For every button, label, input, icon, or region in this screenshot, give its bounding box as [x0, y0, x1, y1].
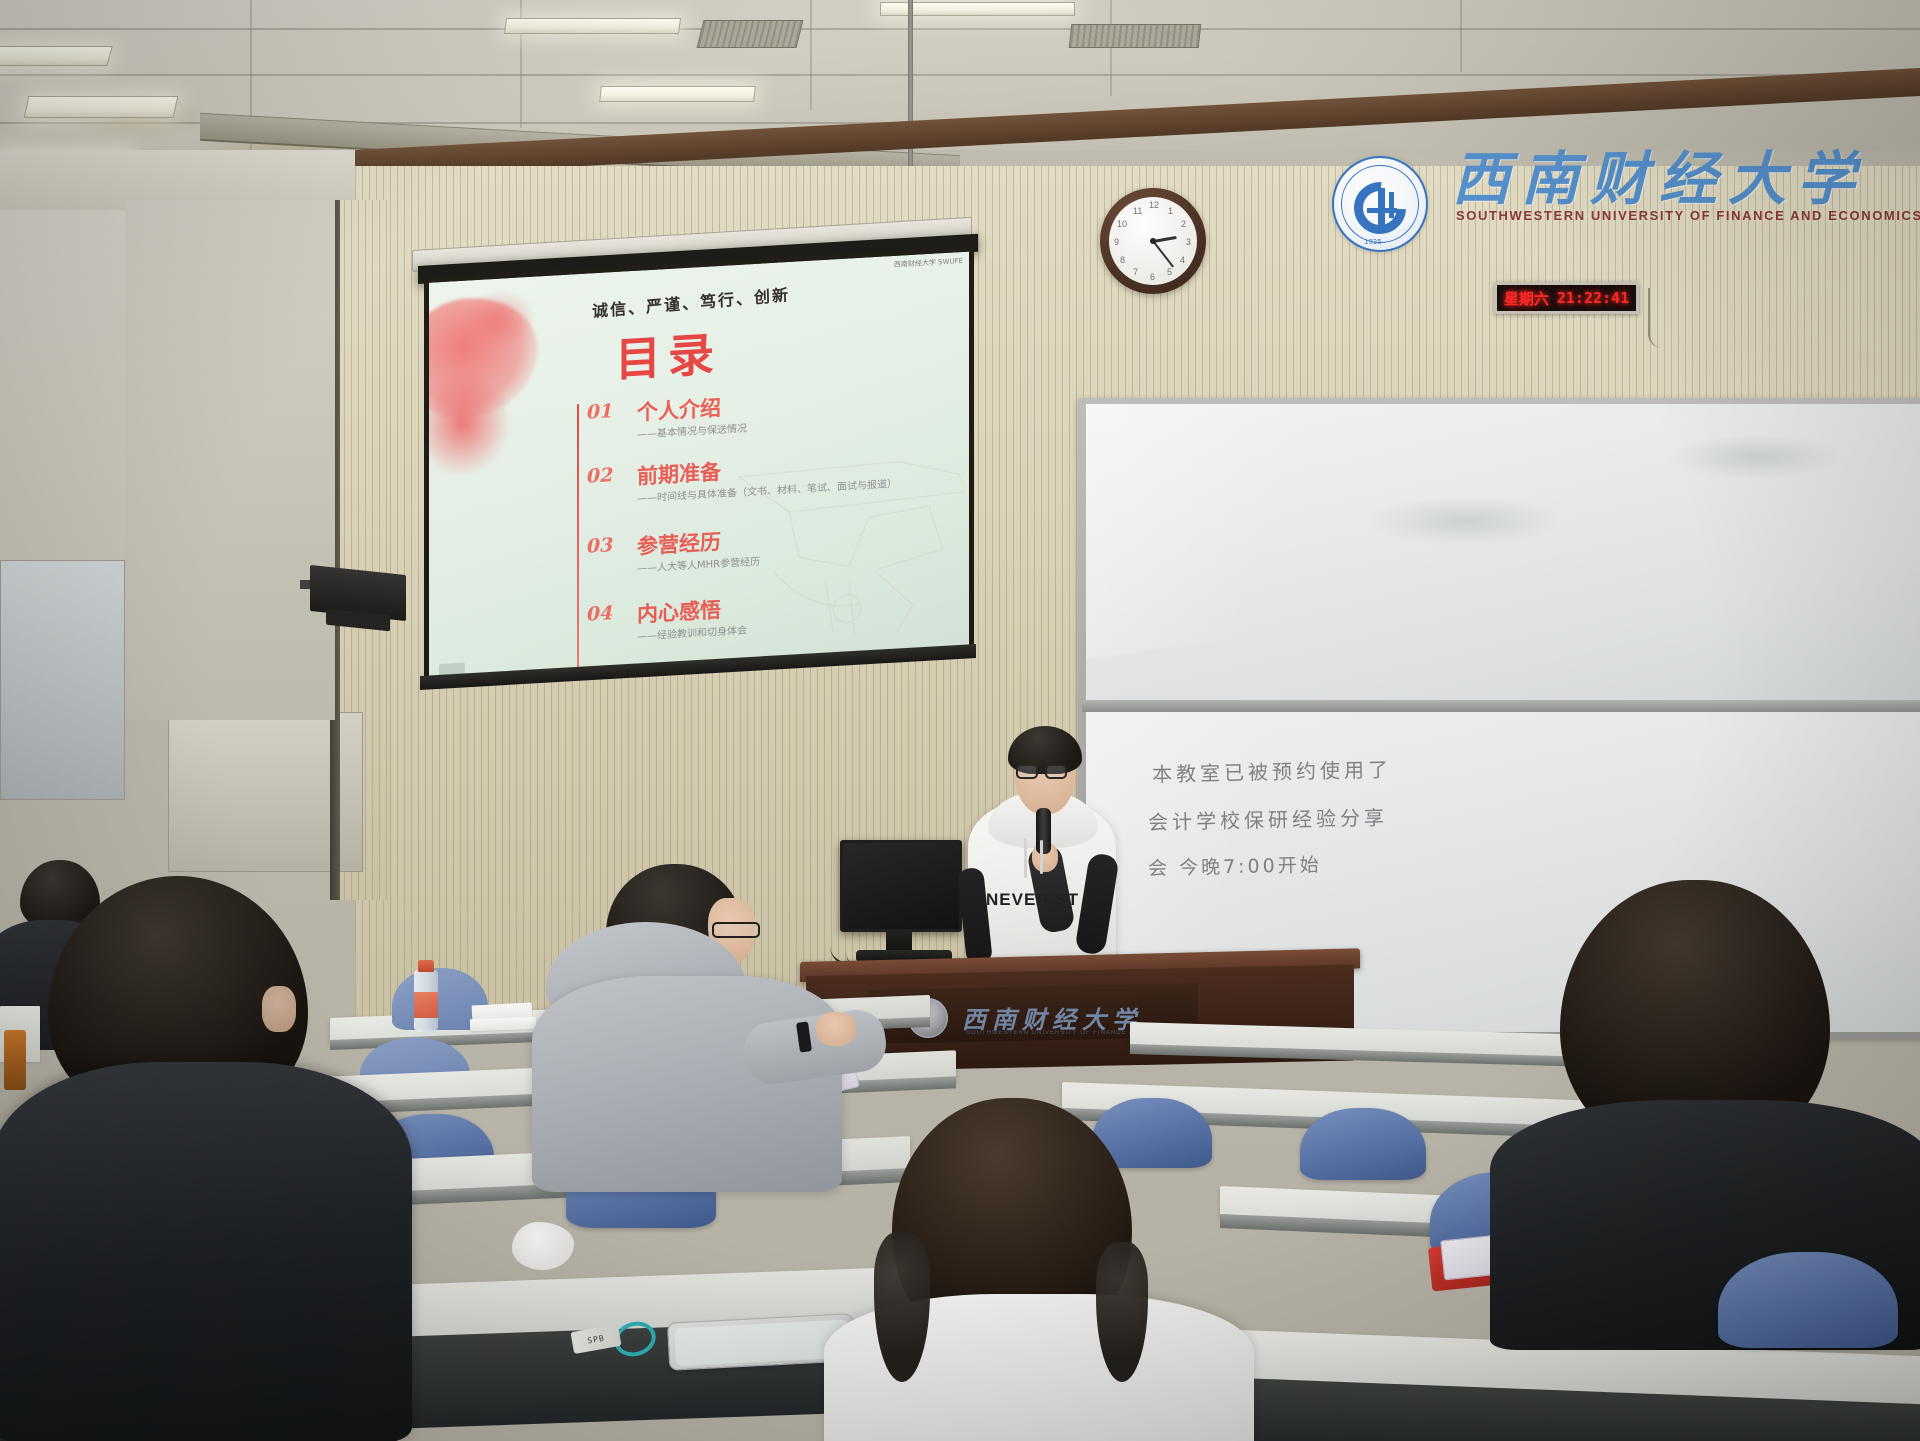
clock-minute-hand	[1152, 240, 1174, 267]
emblem-year: 1925	[1364, 238, 1382, 246]
led-clock-display: 星期六 21:22:41	[1494, 282, 1639, 314]
whiteboard-text-line: 本教室已被预约使用了	[1152, 753, 1393, 787]
ceiling-grid-line	[810, 0, 812, 110]
presenter-speaker: NEVER ST	[962, 718, 1132, 988]
lecture-hall-scene: 1925 西南财经大学 SOUTHWESTERN UNIVERSITY OF F…	[0, 0, 1920, 1441]
banner-title-cn: 西南财经大学	[1452, 132, 1866, 216]
projection-screen: 西南财经大学 SWUFE 诚信、严谨、笃行、创新 目录 01 个人介绍 ——基本…	[424, 246, 974, 686]
clock-hour-hand	[1153, 236, 1177, 243]
hoodie-drawstring	[1024, 838, 1027, 878]
led-weekday: 星期六	[1504, 288, 1549, 309]
student-right	[1500, 890, 1920, 1320]
slide-motto: 诚信、严谨、笃行、创新	[592, 281, 791, 322]
emblem-bar	[1367, 208, 1397, 213]
crumpled-tissue[interactable]	[512, 1222, 574, 1270]
ceiling-grid-line	[1460, 0, 1462, 72]
emblem-bar	[1389, 192, 1394, 218]
whiteboard-text-line: 会 今晚7:00开始	[1148, 850, 1322, 881]
whiteboard-upper	[1086, 404, 1920, 704]
slide-content: 西南财经大学 SWUFE 诚信、严谨、笃行、创新 目录 01 个人介绍 ——基本…	[429, 252, 969, 681]
wall-panel-far-left	[0, 560, 125, 800]
hoodie-drawstring	[1040, 840, 1043, 874]
clock-face: 12 1 2 3 4 5 6 7 8 9 10 11	[1109, 197, 1197, 285]
student-cheek	[262, 986, 296, 1032]
slide-item-number: 02	[587, 464, 613, 488]
slide-item-number: 03	[587, 534, 613, 558]
wall-left-mid	[125, 200, 335, 720]
ceiling-grid-line	[1110, 0, 1112, 96]
slide-title: 目录	[615, 318, 721, 390]
student-glasses	[712, 922, 760, 938]
led-cable	[1648, 288, 1670, 348]
whiteboard-smudge	[1666, 434, 1846, 480]
student-torso	[532, 976, 842, 1192]
slide-ink-blob	[424, 368, 510, 478]
ceiling-light	[0, 46, 113, 66]
ceiling-light	[504, 18, 681, 34]
slide-item-number: 04	[587, 602, 613, 626]
university-emblem: 1925	[1332, 156, 1428, 252]
bottle-label	[414, 992, 438, 1018]
ceiling-grid-line	[0, 28, 1920, 30]
student-torso	[0, 1062, 412, 1441]
slide-toc-rail	[577, 404, 579, 672]
wall-clock: 12 1 2 3 4 5 6 7 8 9 10 11	[1100, 188, 1206, 294]
ceiling-vent	[1069, 24, 1202, 48]
clock-center-pin	[1150, 238, 1156, 244]
led-time: 21:22:41	[1557, 289, 1629, 307]
chair-back[interactable]	[1718, 1252, 1898, 1348]
student-front-left	[22, 876, 382, 1436]
ceiling-vent	[697, 20, 804, 48]
ceiling-light	[24, 96, 179, 118]
student-center	[800, 1112, 1280, 1441]
presenter-hoodie-text: NEVER ST	[986, 890, 1079, 910]
banner-title-en: SOUTHWESTERN UNIVERSITY OF FINANCE AND E…	[1456, 208, 1920, 223]
microphone-icon	[1036, 808, 1051, 854]
presenter-glasses-bridge	[1038, 770, 1045, 772]
presenter-glasses-left	[1016, 764, 1038, 779]
chair-back[interactable]	[1300, 1108, 1426, 1180]
ceiling-light	[599, 86, 756, 102]
ceiling-grid-line	[0, 74, 1920, 76]
whiteboard-text-line: 会计学校保研经验分享	[1148, 801, 1389, 835]
bottle-cap	[418, 960, 434, 972]
whiteboard-divider-tray	[1082, 700, 1920, 712]
presenter-glasses-right	[1045, 764, 1067, 779]
student-hand	[816, 1012, 856, 1046]
whiteboard-smudge	[1366, 496, 1566, 546]
slide-corner-logo: 西南财经大学 SWUFE	[894, 256, 963, 270]
slide-item-number: 01	[587, 400, 613, 424]
